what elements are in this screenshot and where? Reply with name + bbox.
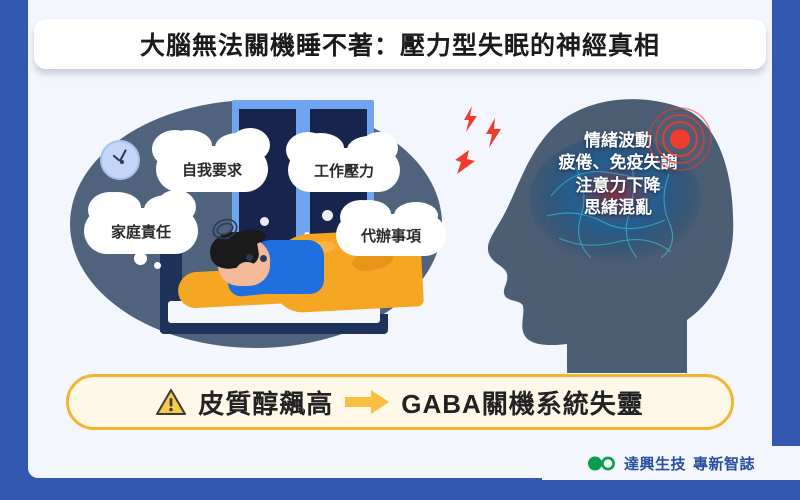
thought-bubble-work-pressure: 工作壓力 <box>288 148 400 192</box>
thought-bubble-label: 家庭責任 <box>111 221 171 242</box>
page-title: 大腦無法關機睡不著：壓力型失眠的神經真相 <box>140 26 660 62</box>
lightning-bolt-icon <box>463 106 477 132</box>
thought-bubble-label: 代辦事項 <box>361 225 421 246</box>
warning-triangle-icon <box>156 387 186 417</box>
symptom-line: 注意力下降 <box>503 175 733 197</box>
thought-bubble-self-demand: 自我要求 <box>156 146 268 192</box>
thought-bubble-label: 工作壓力 <box>314 160 374 181</box>
sleeper-hand <box>236 262 258 280</box>
right-illustration: 情緒波動 疲倦、免疫失調 注意力下降 思緒混亂 <box>455 88 775 373</box>
left-illustration: 自我要求 工作壓力 家庭責任 代辦事項 <box>60 92 450 362</box>
thought-bubble-family-duty: 家庭責任 <box>84 208 198 254</box>
banner-cause-text: 皮質醇飆高 <box>198 384 333 421</box>
lightning-bolt-icon <box>485 118 501 148</box>
pain-pulse-icon <box>647 106 713 172</box>
banner-effect-text: GABA關機系統失靈 <box>401 384 644 421</box>
conclusion-banner: 皮質醇飆高 GABA關機系統失靈 <box>66 374 734 430</box>
wall-clock-icon <box>100 140 140 180</box>
scribble-icon <box>208 214 242 244</box>
brand-footer: 達興生技 專新智誌 <box>542 446 800 480</box>
infinity-logo-icon <box>587 456 617 471</box>
thought-bubble-todo-list: 代辦事項 <box>336 214 446 256</box>
infographic-canvas: 大腦無法關機睡不著：壓力型失眠的神經真相 <box>0 0 800 500</box>
title-bar: 大腦無法關機睡不著：壓力型失眠的神經真相 <box>34 19 766 69</box>
brand-name: 達興生技 <box>624 453 686 474</box>
lightning-bolt-icon <box>455 150 477 174</box>
arrow-right-icon <box>345 389 389 415</box>
brand-tagline: 專新智誌 <box>693 453 755 474</box>
thought-bubble-label: 自我要求 <box>182 159 242 180</box>
symptom-line: 思緒混亂 <box>503 197 733 219</box>
